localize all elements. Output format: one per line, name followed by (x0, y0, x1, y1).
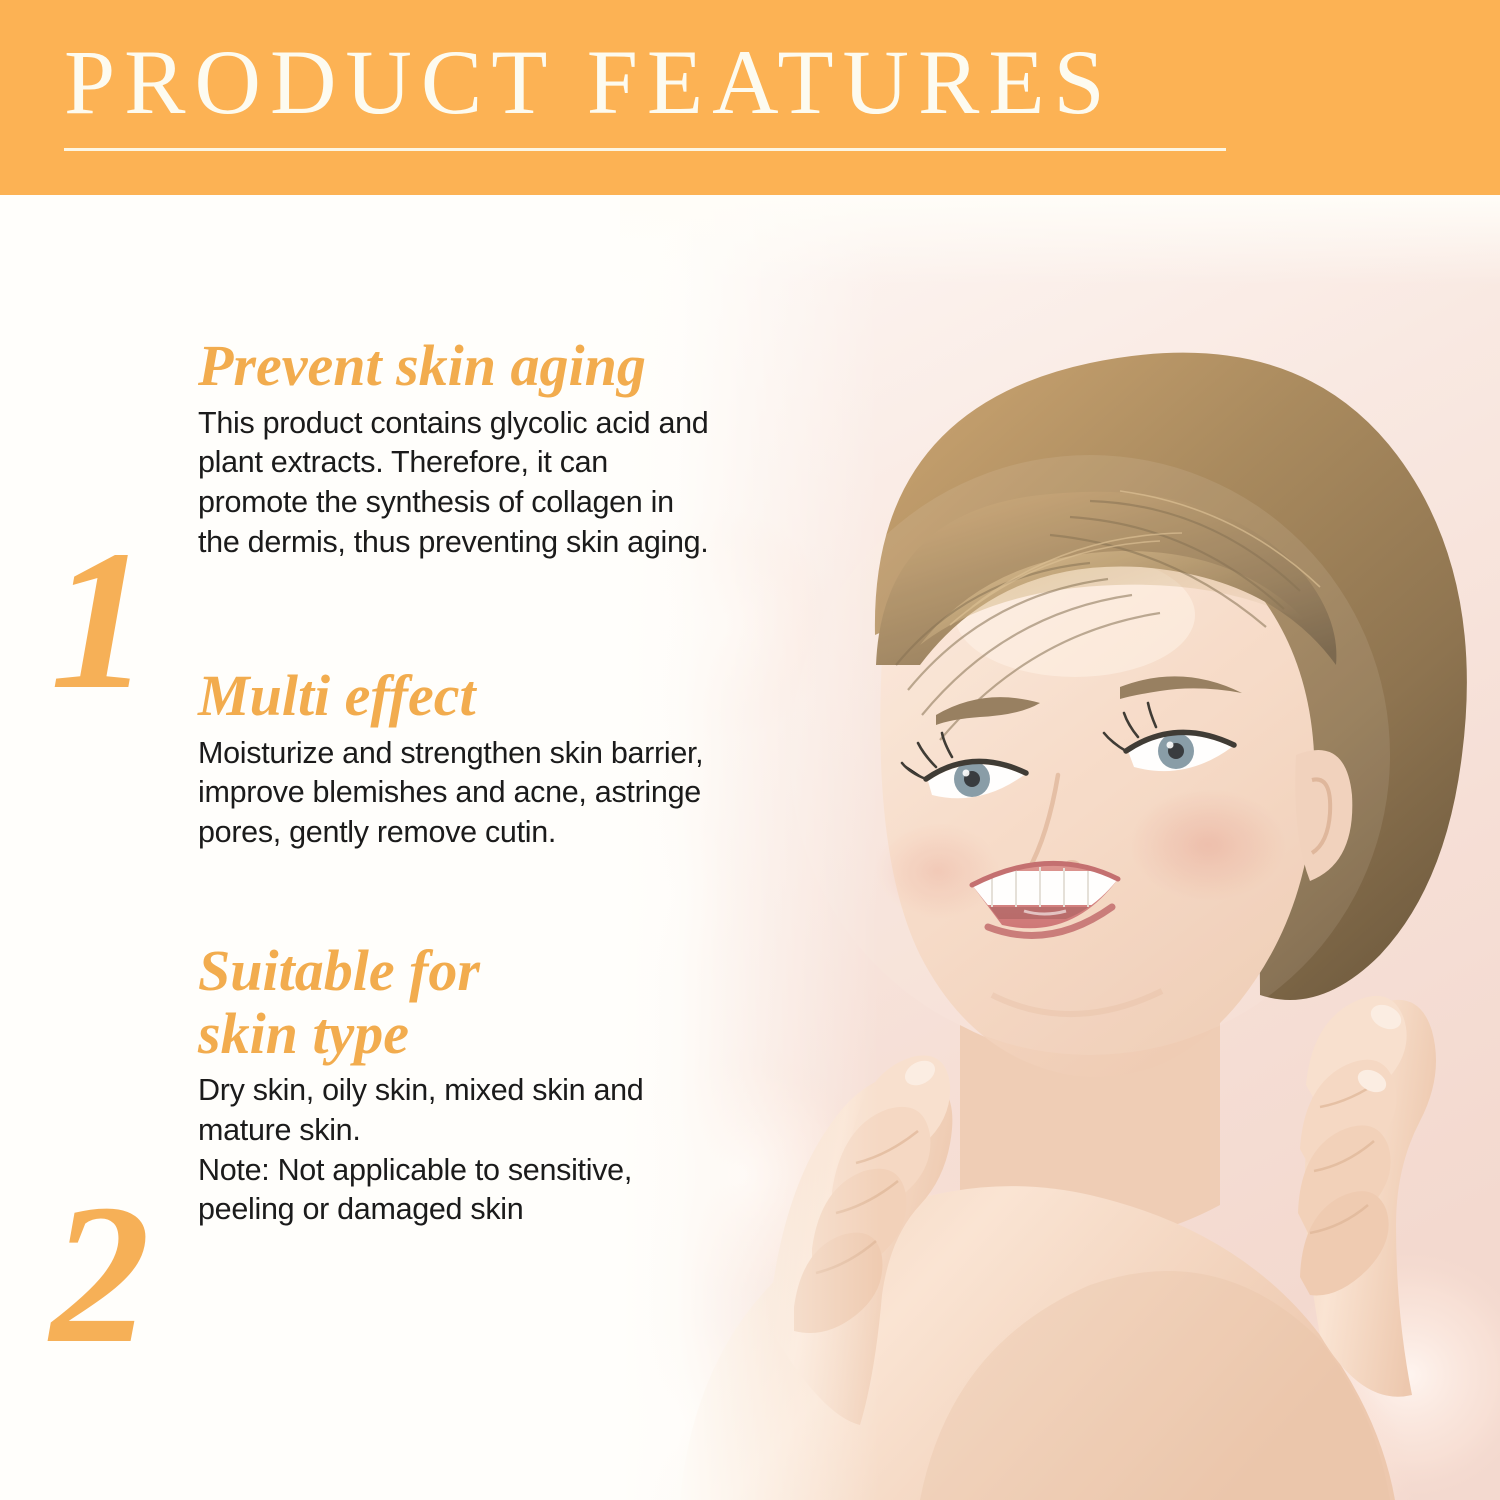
header-bar: PRODUCT FEATURES (0, 0, 1500, 195)
feature-body-1: Prevent skin aging This product contains… (198, 335, 718, 562)
feature-title-2: Multi effect (198, 665, 718, 728)
feature-title-3: Suitable for skin type (198, 940, 718, 1065)
feature-number-1: 1 (0, 521, 200, 721)
product-features-infographic: PRODUCT FEATURES 1 Prevent skin aging Th… (0, 0, 1500, 1500)
model-portrait-photo (620, 195, 1500, 1500)
feature-body-2: Multi effect Moisturize and strengthen s… (198, 665, 718, 853)
feature-title-1: Prevent skin aging (198, 335, 718, 398)
feature-text-3: Dry skin, oily skin, mixed skin and matu… (198, 1071, 718, 1230)
feature-number-2: 2 (0, 1175, 200, 1375)
feature-text-1: This product contains glycolic acid and … (198, 404, 718, 563)
page-title: PRODUCT FEATURES (64, 36, 1114, 128)
header-underline-rule (64, 148, 1226, 151)
feature-text-2: Moisturize and strengthen skin barrier, … (198, 734, 718, 853)
feature-body-3: Suitable for skin type Dry skin, oily sk… (198, 940, 718, 1230)
